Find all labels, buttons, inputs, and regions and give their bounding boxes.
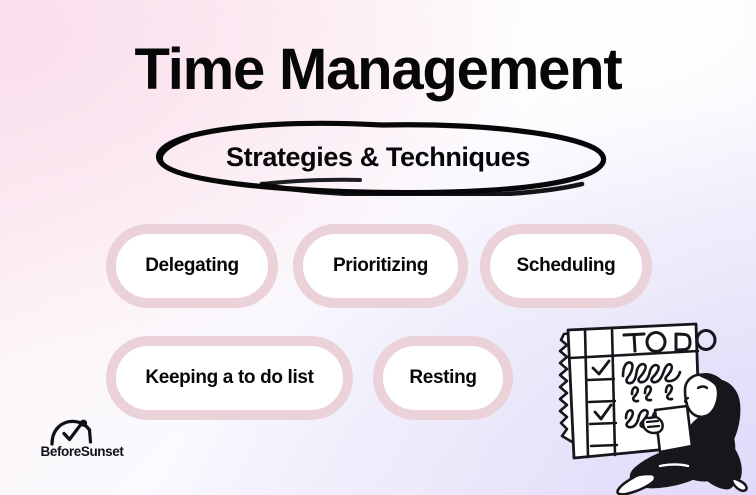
page-subtitle: Strategies & Techniques [0,118,756,196]
page-title: Time Management [0,40,756,101]
pill-label: Resting [409,367,476,389]
pill-label: Keeping a to do list [145,367,313,389]
title-block: Time Management [0,40,756,101]
arc-check-dot-icon [49,418,95,446]
poster-canvas: Time Management Strategies & Techniques … [0,0,756,495]
brand-name: BeforeSunset [27,444,137,459]
pill-label: Prioritizing [333,255,428,277]
pill-delegating[interactable]: Delegating [106,224,278,308]
person-with-todo-list-illustration [548,306,756,495]
pill-scheduling[interactable]: Scheduling [480,224,652,308]
subtitle-block: Strategies & Techniques [0,118,756,196]
pill-resting[interactable]: Resting [373,336,513,420]
pill-prioritizing[interactable]: Prioritizing [293,224,468,308]
pill-label: Delegating [145,255,239,277]
brand-logo[interactable]: BeforeSunset [27,418,137,470]
pill-label: Scheduling [517,255,616,277]
pill-keeping-a-to-do-list[interactable]: Keeping a to do list [106,336,353,420]
